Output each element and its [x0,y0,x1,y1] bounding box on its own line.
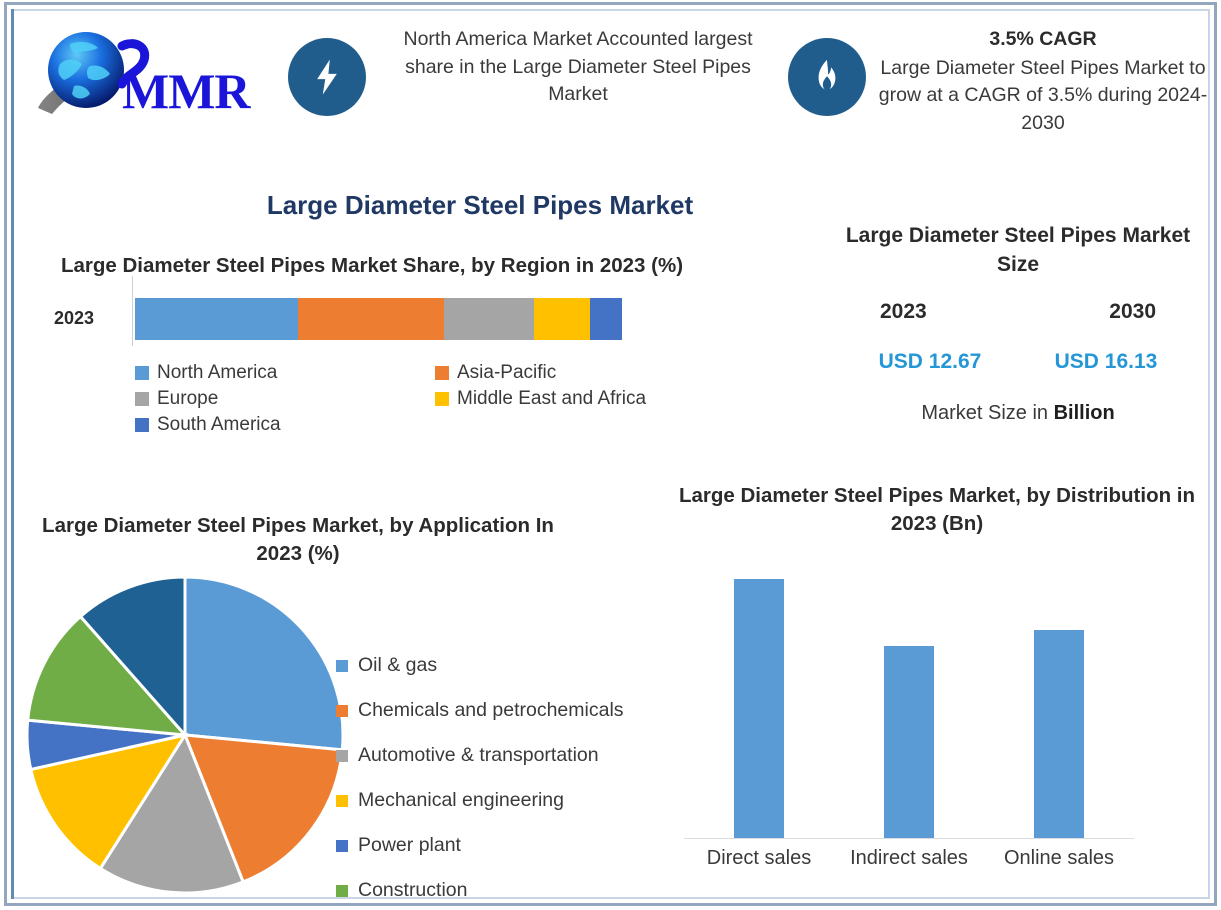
stacked-segment-asia-pacific [298,298,444,340]
distribution-col-online-sales [984,552,1134,838]
legend-swatch-south-america [135,418,149,432]
region-legend-row: South America [135,414,725,436]
legend-swatch-chemicals-and-petrochemicals [336,705,348,717]
legend-label-mechanical-engineering: Mechanical engineering [358,789,564,812]
chart-distribution-plot: Direct sales Indirect sales Online sales [672,551,1202,839]
distribution-bar-indirect-sales [884,646,934,837]
region-legend-row: North America Asia-Pacific [135,362,725,384]
stacked-segment-mea [534,298,590,340]
legend-item-oil-and-gas: Oil & gas [336,643,686,688]
market-size-years: 2023 2030 [838,300,1198,324]
brand-logo: MMR [30,22,270,134]
chart-distribution: Large Diameter Steel Pipes Market, by Di… [672,482,1202,839]
pie-slice [185,577,343,750]
market-size-unit-value: Billion [1054,402,1115,424]
distribution-col-direct-sales [684,552,834,838]
legend-swatch-north-america [135,366,149,380]
region-legend-row: Europe Middle East and Africa [135,388,725,410]
chart-region-share-plot: 2023 [22,294,722,346]
legend-swatch-asia-pacific [435,366,449,380]
chart-region-share: Large Diameter Steel Pipes Market Share,… [22,252,722,440]
legend-item-chemicals-and-petrochemicals: Chemicals and petrochemicals [336,688,686,733]
legend-swatch-power-plant [336,840,348,852]
legend-item-middle-east-and-africa: Middle East and Africa [435,388,646,410]
market-size-value-2030: USD 16.13 [1026,350,1186,374]
flame-icon [788,38,866,116]
distribution-label-online-sales: Online sales [984,847,1134,870]
legend-item-asia-pacific: Asia-Pacific [435,362,556,384]
market-size-value-2023: USD 12.67 [850,350,1010,374]
legend-label-south-america: South America [157,414,281,436]
stacked-segment-north-america [135,298,298,340]
page-title: Large Diameter Steel Pipes Market [0,190,960,221]
application-pie [22,573,352,893]
kpi-cagr-headline: 3.5% CAGR [878,26,1208,54]
legend-item-automotive-and-transportation: Automotive & transportation [336,733,686,778]
chart-distribution-title: Large Diameter Steel Pipes Market, by Di… [672,482,1202,539]
infographic-page: MMR North America Market Accounted large… [0,0,1221,910]
legend-swatch-construction [336,885,348,897]
legend-swatch-middle-east-and-africa [435,392,449,406]
legend-label-construction: Construction [358,879,467,902]
market-size-unit-note: Market Size in Billion [838,402,1198,425]
legend-item-power-plant: Power plant [336,823,686,868]
market-size-panel: Large Diameter Steel Pipes Market Size 2… [838,222,1198,425]
brand-logo-text: MMR [122,62,250,120]
legend-item-north-america: North America [135,362,435,384]
distribution-label-direct-sales: Direct sales [684,847,834,870]
stacked-segment-south-america [590,298,622,340]
market-size-title: Large Diameter Steel Pipes Market Size [838,222,1198,280]
market-size-year-2030: 2030 [1109,300,1156,324]
legend-label-asia-pacific: Asia-Pacific [457,362,556,384]
chart-application-title: Large Diameter Steel Pipes Market, by Ap… [18,512,578,567]
stacked-segment-europe [444,298,534,340]
legend-label-power-plant: Power plant [358,834,461,857]
distribution-col-indirect-sales [834,552,984,838]
legend-label-chemicals-and-petrochemicals: Chemicals and petrochemicals [358,699,624,722]
legend-item-construction: Construction [336,868,686,910]
distribution-bar-online-sales [1034,630,1084,838]
distribution-category-labels: Direct sales Indirect sales Online sales [684,847,1134,870]
market-size-year-2023: 2023 [880,300,927,324]
market-size-values: USD 12.67 USD 16.13 [838,350,1198,374]
legend-item-mechanical-engineering: Mechanical engineering [336,778,686,823]
market-size-unit-prefix: Market Size in [921,402,1053,424]
region-category-label: 2023 [54,308,94,329]
header-band: MMR North America Market Accounted large… [16,14,1206,174]
legend-label-north-america: North America [157,362,277,384]
stacked-bar [135,298,622,340]
chart-application-plot: Oil & gas Chemicals and petrochemicals A… [18,573,678,893]
region-axis-line [132,276,133,346]
distribution-bar-direct-sales [734,579,784,837]
legend-label-europe: Europe [157,388,218,410]
legend-label-middle-east-and-africa: Middle East and Africa [457,388,646,410]
legend-item-europe: Europe [135,388,435,410]
kpi-cagr-body: Large Diameter Steel Pipes Market to gro… [879,57,1207,134]
legend-swatch-mechanical-engineering [336,795,348,807]
legend-label-automotive-and-transportation: Automotive & transportation [358,744,599,767]
legend-swatch-automotive-and-transportation [336,750,348,762]
legend-label-oil-and-gas: Oil & gas [358,654,437,677]
region-legend: North America Asia-Pacific Europe Middle… [135,362,725,436]
legend-swatch-europe [135,392,149,406]
application-legend: Oil & gas Chemicals and petrochemicals A… [336,643,686,910]
distribution-bars [684,552,1134,838]
kpi-cagr-text: 3.5% CAGR Large Diameter Steel Pipes Mar… [866,26,1208,138]
distribution-label-indirect-sales: Indirect sales [834,847,984,870]
chart-application-share: Large Diameter Steel Pipes Market, by Ap… [18,512,678,893]
lightning-bolt-glyph [306,56,348,98]
flame-glyph [806,56,848,98]
chart-region-share-title: Large Diameter Steel Pipes Market Share,… [22,252,722,280]
legend-item-south-america: South America [135,414,435,436]
left-accent-bar [11,9,14,899]
kpi-north-america: North America Market Accounted largest s… [288,26,778,116]
kpi-cagr: 3.5% CAGR Large Diameter Steel Pipes Mar… [788,26,1208,138]
kpi-north-america-text: North America Market Accounted largest s… [366,26,778,109]
distribution-baseline [684,838,1134,839]
legend-swatch-oil-and-gas [336,660,348,672]
lightning-bolt-icon [288,38,366,116]
